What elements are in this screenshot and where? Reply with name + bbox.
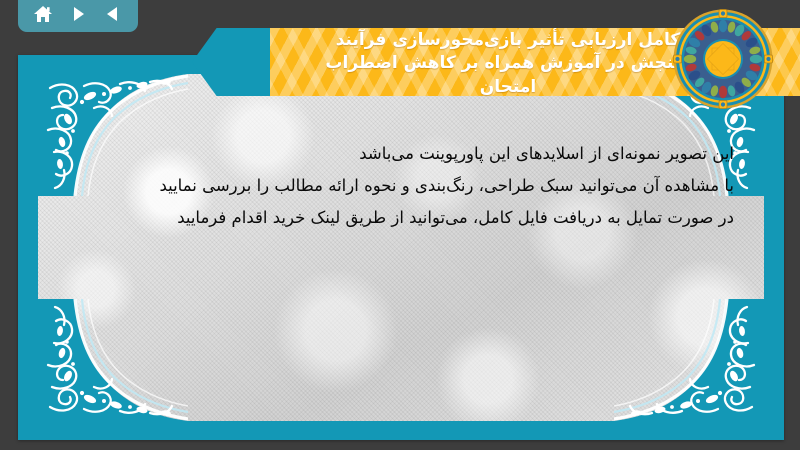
- body-line-2: با مشاهده آن می‌توانید سبک طراحی، رنگ‌بن…: [68, 170, 734, 202]
- previous-slide-button[interactable]: [99, 1, 127, 27]
- slide-canvas: این تصویر نمونه‌ای از اسلایدهای این پاور…: [38, 74, 764, 421]
- persian-circular-ornament-icon: [672, 8, 774, 110]
- home-icon: [33, 5, 53, 24]
- slide-body-text: این تصویر نمونه‌ای از اسلایدهای این پاور…: [68, 138, 734, 235]
- title-line-1: کامل ارزیابی تأثیر بازی‌محورسازی فرآیند: [276, 29, 740, 52]
- triangle-right-icon: [69, 5, 87, 23]
- slide-frame: این تصویر نمونه‌ای از اسلایدهای این پاور…: [18, 55, 784, 440]
- slide-viewer: این تصویر نمونه‌ای از اسلایدهای این پاور…: [0, 0, 800, 450]
- triangle-left-icon: [104, 5, 122, 23]
- body-line-3: در صورت تمایل به دریافت فایل کامل، می‌تو…: [68, 202, 734, 234]
- arabesque-corner-icon-bottom-right: [614, 299, 764, 421]
- body-line-1: این تصویر نمونه‌ای از اسلایدهای این پاور…: [68, 138, 734, 170]
- arabesque-corner-icon-bottom-left: [38, 299, 188, 421]
- home-slide-button[interactable]: [29, 1, 57, 27]
- slide-navigation-toolbar: [18, 0, 138, 32]
- next-slide-button[interactable]: [64, 1, 92, 27]
- title-line-3: امتحان: [276, 76, 740, 99]
- title-line-2: سنجش در آموزش همراه بر کاهش اضطراب: [276, 52, 740, 75]
